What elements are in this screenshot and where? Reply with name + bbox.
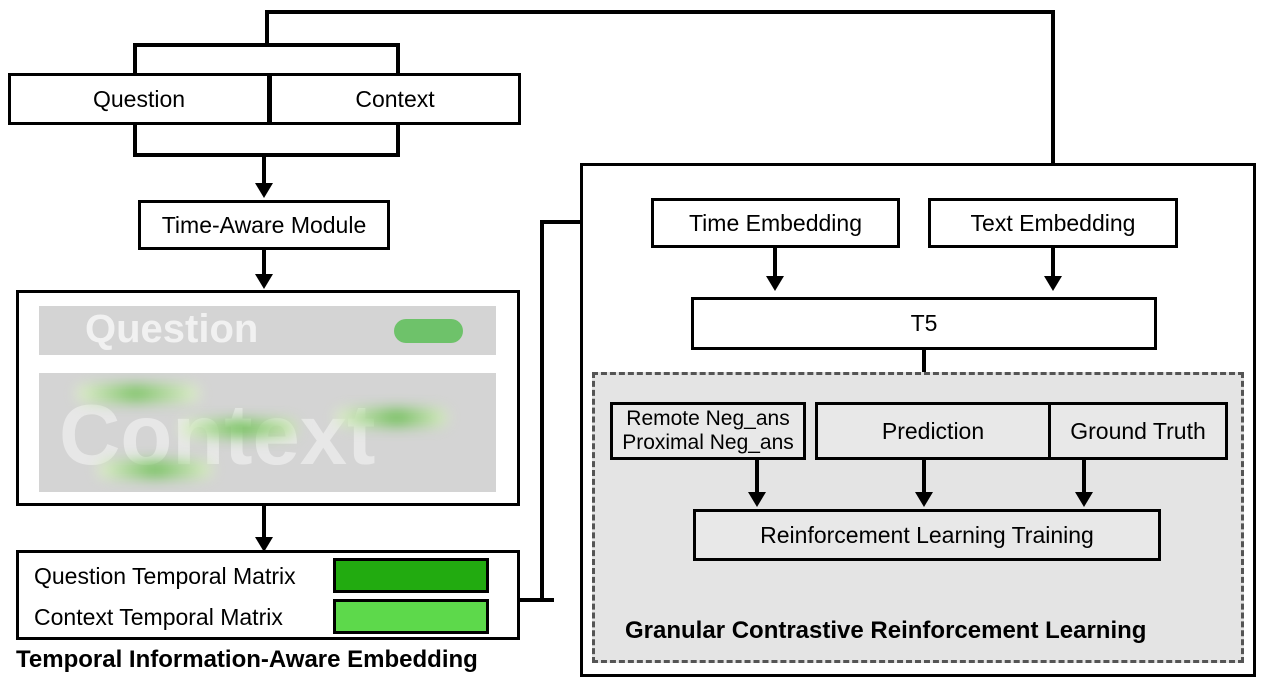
wire-ground-truth-to-rl-training [1082,460,1086,494]
node-time-aware-module-label: Time-Aware Module [162,212,367,238]
arrow-down-icon-ground-truth-to-rl-training [1075,492,1093,507]
node-context[interactable]: Context [269,73,521,125]
arrow-down-icon-neg-ans-to-rl-training [748,492,766,507]
arrow-down-icon-to-mock-panel [255,274,273,289]
wire-neg-ans-to-rl-training [755,460,759,494]
diagram-canvas: Question Context Time-Aware Module Quest… [0,0,1266,690]
node-rl-training-label: Reinforcement Learning Training [760,522,1094,548]
node-time-embedding[interactable]: Time Embedding [651,198,900,248]
wire-context-to-text-embedding-vertical-left [265,10,269,46]
mock-question-word: Question [85,306,258,354]
node-context-label: Context [355,86,434,112]
node-t5-label: T5 [911,310,938,336]
wire-matrix-to-time-embedding-vertical [540,220,544,602]
node-prediction[interactable]: Prediction [815,402,1051,460]
wire-context-to-text-embedding-horizontal-top [265,10,1055,14]
matrix-label-question: Question Temporal Matrix [34,563,296,590]
wire-time-embedding-to-t5 [773,248,777,278]
node-ground-truth[interactable]: Ground Truth [1048,402,1228,460]
node-ground-truth-label: Ground Truth [1070,418,1206,444]
arrow-down-icon-text-embedding-to-t5 [1044,276,1062,291]
wire-prediction-to-rl-training [922,460,926,494]
arrow-down-icon-time-embedding-to-t5 [766,276,784,291]
arrow-down-icon-to-time-aware-module [255,183,273,198]
caption-granular-rl: Granular Contrastive Reinforcement Learn… [625,617,1146,645]
context-highlight-1 [76,385,200,402]
wire-mock-panel-to-matrix-panel [262,506,266,540]
bracket-bottom-horizontal [133,153,400,157]
wire-text-embedding-to-t5 [1051,248,1055,278]
caption-temporal-embedding: Temporal Information-Aware Embedding [16,646,478,674]
bracket-top-left-leg [133,43,137,75]
node-time-aware-module[interactable]: Time-Aware Module [138,200,390,250]
context-highlight-3 [335,409,448,426]
bracket-top-horizontal [133,43,400,47]
node-rl-training[interactable]: Reinforcement Learning Training [693,509,1161,561]
node-prediction-label: Prediction [882,418,984,444]
context-highlight-2 [180,420,297,437]
node-question-label: Question [93,86,185,112]
arrow-down-icon-prediction-to-rl-training [915,492,933,507]
bracket-top-right-leg [396,43,400,75]
node-t5[interactable]: T5 [691,297,1157,350]
wire-matrix-to-time-embedding-horizontal-bottom [518,598,554,602]
node-time-embedding-label: Time Embedding [689,210,862,236]
node-neg-ans-label: Remote Neg_ans Proximal Neg_ans [622,407,794,455]
matrix-bar-question [333,558,489,593]
matrix-label-context: Context Temporal Matrix [34,604,283,631]
wire-time-aware-module-to-mock-panel [262,250,266,276]
node-text-embedding-label: Text Embedding [971,210,1136,236]
wire-bracket-to-time-aware-module [262,157,266,185]
context-highlight-4 [97,461,213,478]
answer-pill-highlight [394,319,463,343]
mock-document-panel: Question Context [16,290,520,506]
node-text-embedding[interactable]: Text Embedding [928,198,1178,248]
matrix-bar-context [333,599,489,634]
node-neg-ans[interactable]: Remote Neg_ans Proximal Neg_ans [610,402,806,460]
node-question[interactable]: Question [8,73,270,125]
mock-question-strip: Question [39,306,496,355]
mock-context-strip: Context [39,373,496,492]
